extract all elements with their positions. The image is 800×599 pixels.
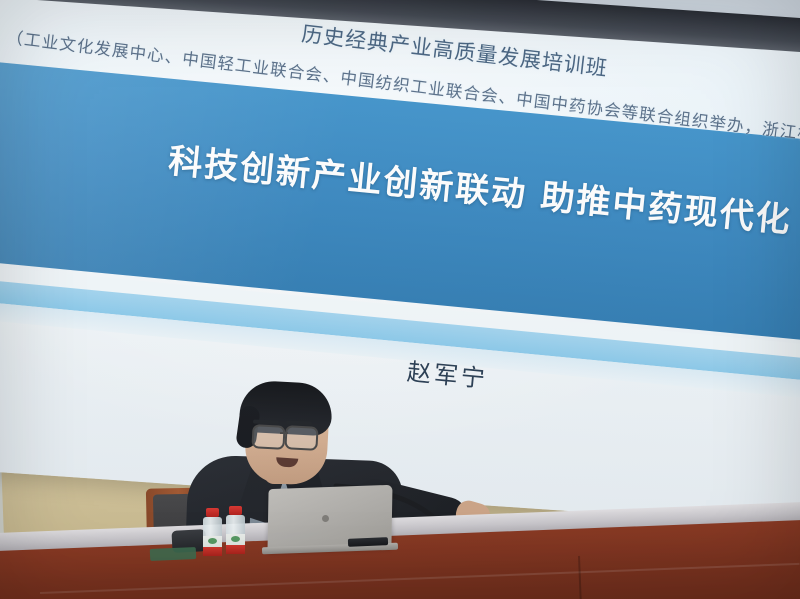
eyeglasses-lens-right [284,425,318,451]
water-bottle [203,508,222,556]
bottle-label-base [226,545,245,554]
bottle-cap [229,506,242,515]
eyeglasses-lens-left [251,424,285,450]
bottle-cap [206,508,219,517]
bottle-label-logo [208,538,217,544]
bottle-label-logo [231,536,240,542]
water-bottle [226,506,245,554]
eyeglasses-bridge [280,432,288,434]
laptop-logo [322,515,329,522]
desk-object-green [150,547,196,561]
bottle-label-base [203,547,222,556]
photo-stage: 科技创新产业创新联动 助推中药现代化 （工业文化发展中心、中国轻工业联合会、中国… [0,0,800,599]
